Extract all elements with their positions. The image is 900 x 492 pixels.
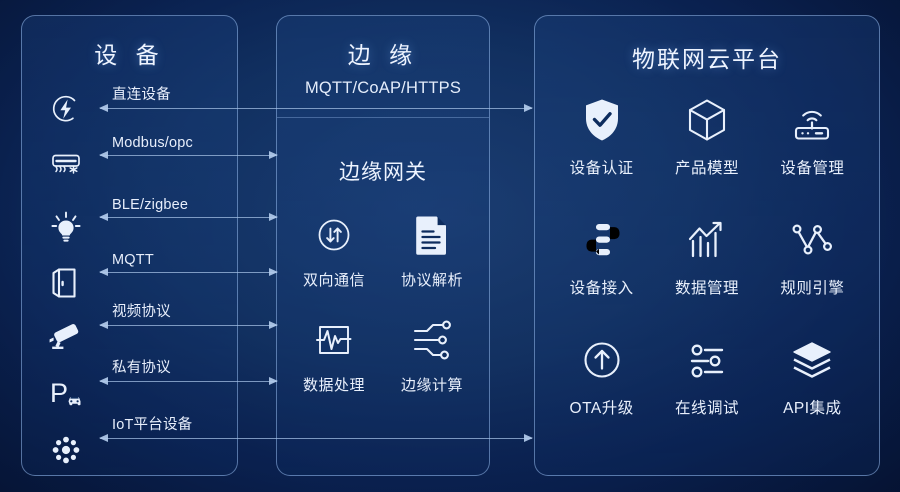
edge-panel-title: 边 缘 xyxy=(277,36,489,70)
arrow-head-left xyxy=(99,377,108,385)
bidirectional-arrows-circle-icon xyxy=(310,211,358,259)
arrow-head-left xyxy=(99,321,108,329)
edge-panel: 边 缘 MQTT/CoAP/HTTPS 边缘网关 双向 xyxy=(276,15,490,476)
cloud-feature-label: 设备认证 xyxy=(570,156,634,178)
iot-dots-icon xyxy=(44,428,88,472)
arrow-head-left xyxy=(99,213,108,221)
cloud-feature-label: 设备接入 xyxy=(570,276,634,298)
edge-feature-label: 协议解析 xyxy=(401,269,463,290)
arrow-head-left xyxy=(99,104,108,112)
lightning-bolt-circle-icon xyxy=(44,87,88,131)
arrow-up-circle-icon xyxy=(576,334,628,386)
edge-feature-label: 数据处理 xyxy=(303,374,365,395)
cloud-feature-label: OTA升级 xyxy=(570,396,634,418)
cube-icon xyxy=(681,94,733,146)
cloud-feature-device-access[interactable]: 设备接入 xyxy=(549,214,654,298)
device-row-direct xyxy=(22,109,239,110)
device-row-parking: P xyxy=(22,392,239,393)
flow-connect-icon xyxy=(576,214,628,266)
cloud-feature-label: 产品模型 xyxy=(675,156,739,178)
device-panel-title: 设 备 xyxy=(22,36,237,70)
iot-architecture-diagram: 直连设备 Modbus/opc BLE/zigbee MQTT 视频协议 私有协… xyxy=(0,0,900,492)
arrow-head-left xyxy=(99,151,108,159)
arrow-head-right xyxy=(524,104,533,112)
arrow-head-left xyxy=(99,434,108,442)
cloud-feature-rule-engine[interactable]: 规则引擎 xyxy=(760,214,865,298)
air-conditioner-icon xyxy=(44,144,88,188)
arrow-head-right xyxy=(269,268,278,276)
arrow-label: 直连设备 xyxy=(112,83,171,104)
arrow-label: 视频协议 xyxy=(112,300,171,321)
device-row-iot-dots xyxy=(22,450,239,451)
arrow-mqtt: MQTT xyxy=(100,272,277,273)
sliders-icon xyxy=(681,334,733,386)
circuit-nodes-icon xyxy=(408,316,456,364)
layers-stack-icon xyxy=(786,334,838,386)
light-bulb-icon xyxy=(44,206,88,250)
device-row-door xyxy=(22,283,239,284)
edge-feature-data-processing[interactable]: 数据处理 xyxy=(287,316,381,395)
edge-protocols-label: MQTT/CoAP/HTTPS xyxy=(277,79,489,98)
cloud-panel: 物联网云平台 设备认证 xyxy=(534,15,880,476)
edge-feature-label: 边缘计算 xyxy=(401,374,463,395)
cloud-feature-device-auth[interactable]: 设备认证 xyxy=(549,94,654,178)
edge-feature-bidirectional[interactable]: 双向通信 xyxy=(287,211,381,290)
edge-divider xyxy=(277,117,489,118)
arrow-direct-device: 直连设备 xyxy=(100,108,532,109)
security-camera-icon xyxy=(44,314,88,358)
svg-text:P: P xyxy=(50,378,68,408)
arrow-video-protocol: 视频协议 xyxy=(100,325,277,326)
arrow-label: BLE/zigbee xyxy=(112,197,188,213)
arrow-label: IoT平台设备 xyxy=(112,413,192,434)
arrow-modbus-opc: Modbus/opc xyxy=(100,155,277,156)
edge-feature-grid: 双向通信 协议解析 xyxy=(287,211,479,395)
router-wifi-icon xyxy=(786,94,838,146)
door-icon xyxy=(44,261,88,305)
edge-feature-label: 双向通信 xyxy=(303,269,365,290)
arrow-iot-platform-device: IoT平台设备 xyxy=(100,438,532,439)
arrow-head-right xyxy=(269,213,278,221)
edge-feature-protocol-parse[interactable]: 协议解析 xyxy=(385,211,479,290)
arrow-head-right xyxy=(269,151,278,159)
bar-chart-up-icon xyxy=(681,214,733,266)
arrow-head-right xyxy=(269,377,278,385)
waveform-square-icon xyxy=(310,316,358,364)
device-row-bulb xyxy=(22,228,239,229)
rule-nodes-icon xyxy=(786,214,838,266)
cloud-feature-label: 在线调试 xyxy=(675,396,739,418)
arrow-label: MQTT xyxy=(112,252,154,268)
edge-feature-edge-computing[interactable]: 边缘计算 xyxy=(385,316,479,395)
arrow-ble-zigbee: BLE/zigbee xyxy=(100,217,277,218)
cloud-feature-label: 规则引擎 xyxy=(780,276,844,298)
cloud-feature-label: API集成 xyxy=(783,396,841,418)
arrow-label: Modbus/opc xyxy=(112,135,193,151)
arrow-head-right xyxy=(524,434,533,442)
cloud-feature-device-mgmt[interactable]: 设备管理 xyxy=(760,94,865,178)
cloud-feature-label: 设备管理 xyxy=(780,156,844,178)
arrow-label: 私有协议 xyxy=(112,356,171,377)
device-row-aircon xyxy=(22,166,239,167)
cloud-feature-api-integration[interactable]: API集成 xyxy=(760,334,865,418)
cloud-feature-product-model[interactable]: 产品模型 xyxy=(654,94,759,178)
cloud-feature-data-mgmt[interactable]: 数据管理 xyxy=(654,214,759,298)
cloud-feature-ota[interactable]: OTA升级 xyxy=(549,334,654,418)
edge-gateway-title: 边缘网关 xyxy=(277,156,489,186)
cloud-feature-grid: 设备认证 产品模型 xyxy=(549,94,865,418)
device-row-camera xyxy=(22,336,239,337)
shield-check-icon xyxy=(576,94,628,146)
arrow-head-left xyxy=(99,268,108,276)
parking-car-icon: P xyxy=(44,370,88,414)
arrow-head-right xyxy=(269,321,278,329)
cloud-panel-title: 物联网云平台 xyxy=(535,40,879,74)
cloud-feature-online-debug[interactable]: 在线调试 xyxy=(654,334,759,418)
arrow-private-protocol: 私有协议 xyxy=(100,381,277,382)
cloud-feature-label: 数据管理 xyxy=(675,276,739,298)
document-lines-icon xyxy=(408,211,456,259)
